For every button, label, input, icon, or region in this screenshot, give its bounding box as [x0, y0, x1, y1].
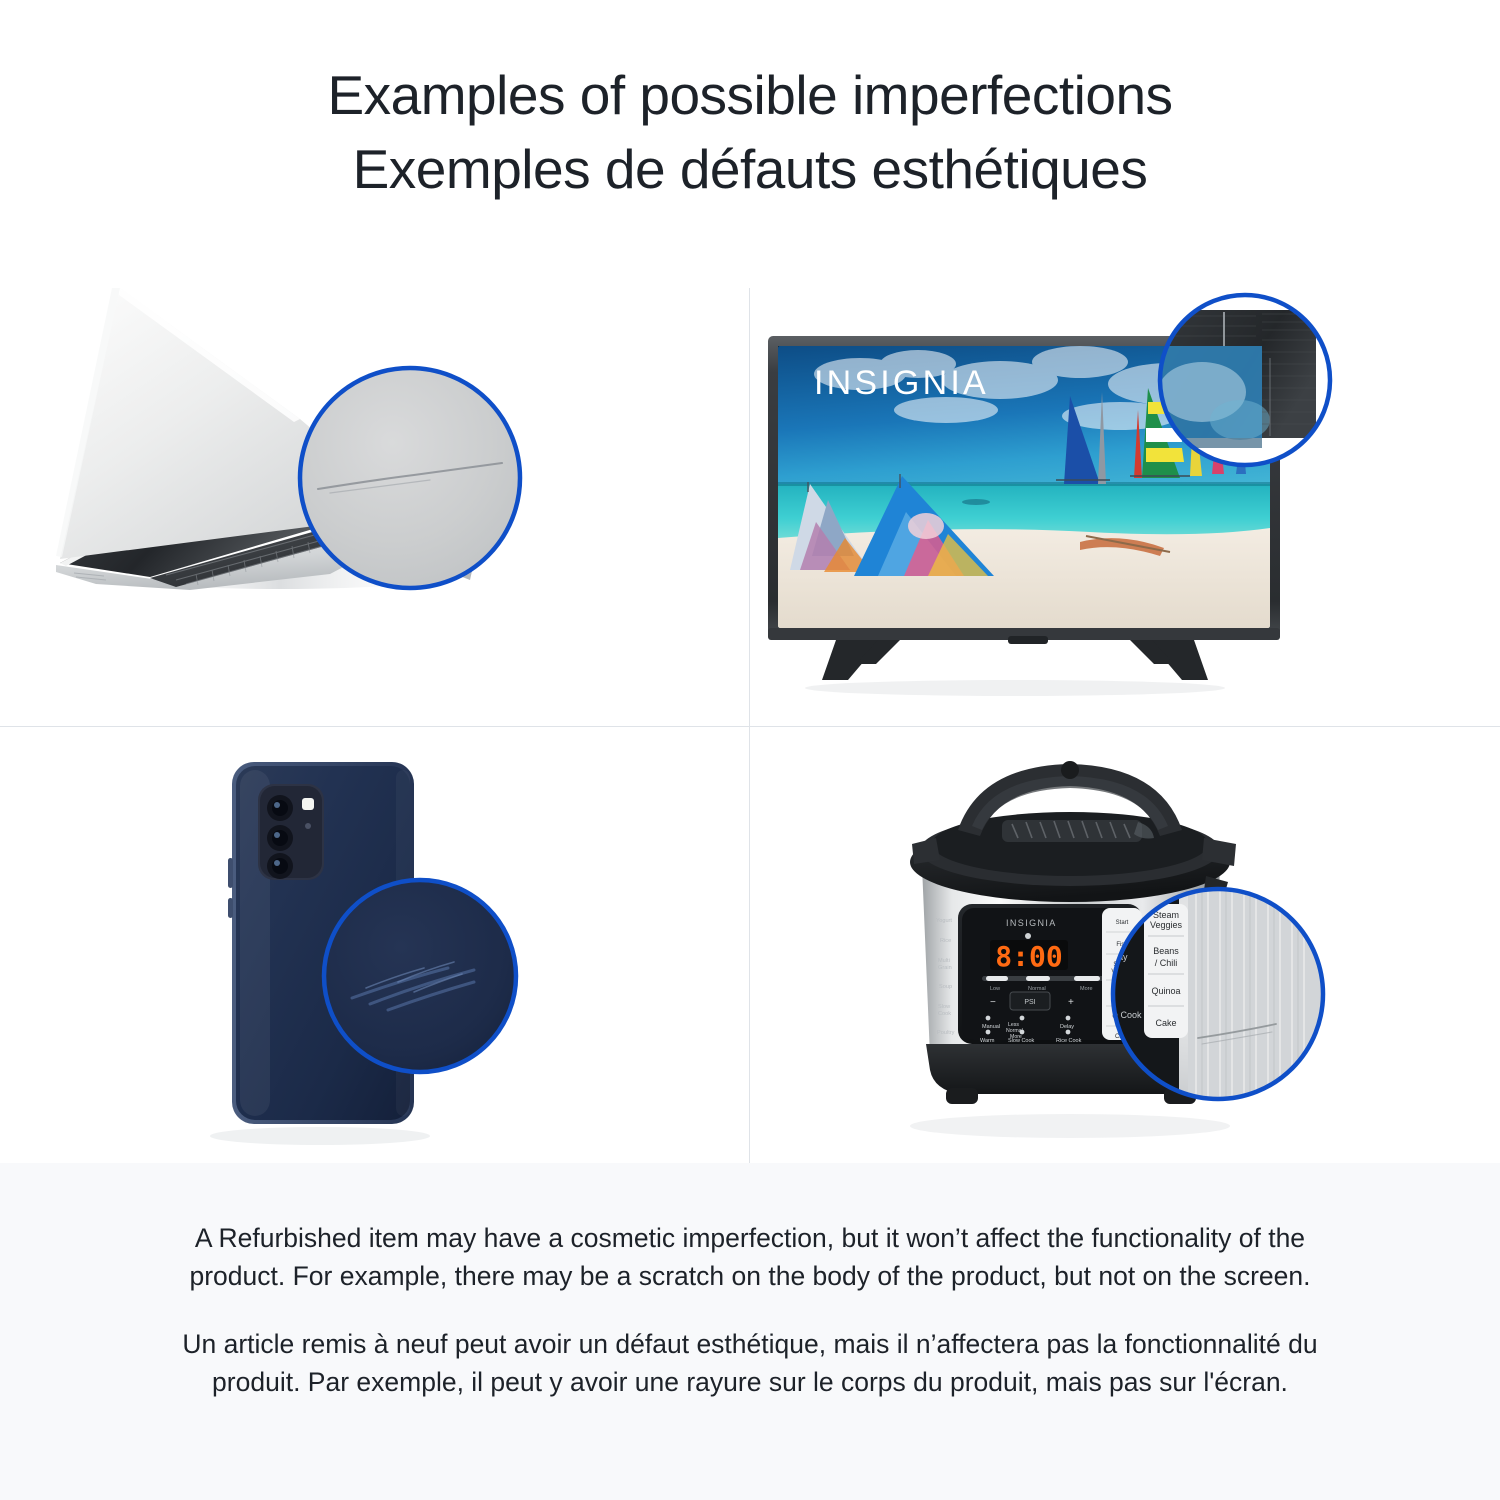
- television-illustration: INSIGNIA: [750, 288, 1500, 725]
- cooker-shadow: [910, 1114, 1230, 1138]
- example-cell-laptop: [0, 288, 750, 725]
- svg-text:Normal: Normal: [1028, 986, 1046, 992]
- svg-text:/ Chili: / Chili: [1155, 958, 1178, 968]
- svg-text:Rice: Rice: [940, 938, 951, 944]
- tv-screen-brand-logo: INSIGNIA: [814, 364, 989, 402]
- phone-camera-module: [258, 784, 324, 880]
- example-cell-pressure-cooker: INSIGNIA 8:00 Low Normal More: [750, 726, 1500, 1163]
- cooker-ear-left: [912, 838, 940, 864]
- smartphone-illustration: [0, 726, 750, 1163]
- svg-text:Steam: Steam: [1153, 910, 1179, 920]
- svg-text:Quinoa: Quinoa: [1151, 986, 1180, 996]
- svg-text:Low: Low: [990, 986, 1000, 992]
- svg-text:+: +: [1068, 997, 1074, 1008]
- svg-text:Slow Cook: Slow Cook: [1008, 1038, 1035, 1044]
- cooker-pressure-label: PSI: [1024, 999, 1035, 1006]
- pressure-cooker-illustration: INSIGNIA 8:00 Low Normal More: [750, 726, 1500, 1163]
- svg-text:Yogurt: Yogurt: [936, 918, 952, 924]
- svg-text:Soup: Soup: [939, 984, 952, 990]
- body-magnifier: Steam Veggies Beans / Chili Quinoa Cake …: [1113, 889, 1328, 1099]
- svg-text:Cook: Cook: [938, 1011, 951, 1017]
- cooker-steam-valve: [1061, 761, 1079, 779]
- svg-text:Poultry: Poultry: [937, 1030, 955, 1036]
- scratch-magnifier: [300, 368, 520, 588]
- svg-text:Slow: Slow: [938, 1004, 951, 1010]
- phone-flash: [302, 798, 314, 810]
- laptop-illustration: [0, 288, 750, 725]
- cooker-button-start: Start: [1116, 920, 1129, 926]
- footer-paragraph-french: Un article remis à neuf peut avoir un dé…: [150, 1325, 1350, 1401]
- svg-text:Beans: Beans: [1153, 946, 1179, 956]
- refurbished-imperfections-infographic: Examples of possible imperfections Exemp…: [0, 0, 1500, 1500]
- svg-text:−: −: [990, 997, 996, 1008]
- cooker-lid-vents: [1002, 820, 1154, 842]
- cooker-display-value: 8:00: [995, 940, 1062, 973]
- cooker-lid: [910, 761, 1236, 902]
- phone-mic: [305, 823, 311, 829]
- back-panel-magnifier: [324, 880, 516, 1072]
- phone-shadow: [210, 1127, 430, 1145]
- cooker-foot-left: [946, 1088, 978, 1104]
- cooker-panel-indicator: [1025, 933, 1031, 939]
- cooker-control-panel: INSIGNIA 8:00 Low Normal More: [936, 904, 1142, 1044]
- page-title-french: Exemples de défauts esthétiques: [0, 132, 1500, 206]
- footer-paragraph-english: A Refurbished item may have a cosmetic i…: [150, 1219, 1350, 1295]
- phone-power-button: [228, 898, 233, 918]
- svg-text:Multi: Multi: [938, 958, 950, 964]
- examples-grid: INSIGNIA: [0, 288, 1500, 1163]
- svg-text:Cake: Cake: [1155, 1018, 1176, 1028]
- svg-text:Warm: Warm: [980, 1038, 995, 1044]
- svg-text:Rice Cook: Rice Cook: [1056, 1038, 1082, 1044]
- svg-text:Manual: Manual: [982, 1024, 1000, 1030]
- tv-stand-legs: [822, 640, 1208, 680]
- svg-text:Delay: Delay: [1060, 1024, 1074, 1030]
- tv-shadow: [805, 680, 1225, 696]
- page-title: Examples of possible imperfections Exemp…: [0, 58, 1500, 206]
- svg-text:Veggies: Veggies: [1150, 920, 1183, 930]
- footer-description: A Refurbished item may have a cosmetic i…: [0, 1163, 1500, 1500]
- phone-volume-button: [228, 858, 233, 888]
- cooker-panel-brand: INSIGNIA: [1006, 918, 1057, 928]
- tv-ir-sensor: [1008, 636, 1048, 644]
- svg-text:More: More: [1080, 986, 1093, 992]
- page-title-english: Examples of possible imperfections: [0, 58, 1500, 132]
- example-cell-television: INSIGNIA: [750, 288, 1500, 725]
- svg-text:Grain: Grain: [938, 965, 952, 971]
- example-cell-smartphone: [0, 726, 750, 1163]
